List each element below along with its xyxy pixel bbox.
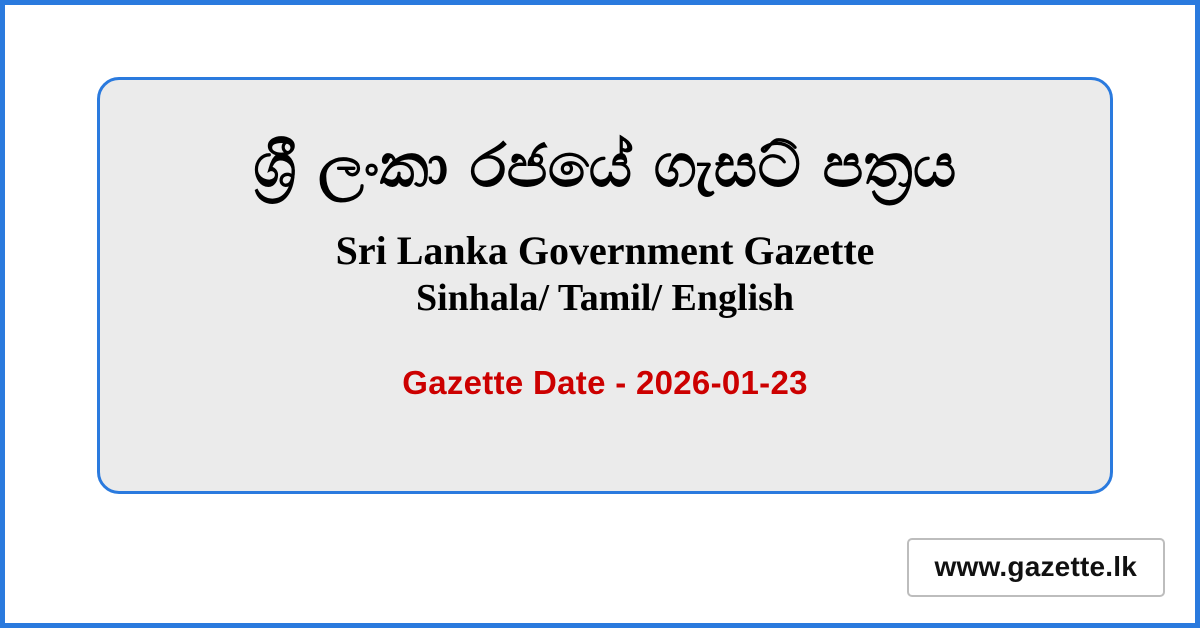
gazette-poster: ශ්‍රී ලංකා රජයේ ගැසට් පත්‍රය Sri Lanka G… [0, 0, 1200, 628]
gazette-title-english: Sri Lanka Government Gazette [336, 227, 875, 274]
gazette-info-card: ශ්‍රී ලංකා රජයේ ගැසට් පත්‍රය Sri Lanka G… [97, 77, 1113, 494]
gazette-date: Gazette Date - 2026-01-23 [402, 364, 808, 402]
website-badge[interactable]: www.gazette.lk [907, 538, 1165, 597]
gazette-languages: Sinhala/ Tamil/ English [416, 276, 794, 322]
gazette-title-sinhala: ශ්‍රී ලංකා රජයේ ගැසට් පත්‍රය [253, 132, 956, 201]
